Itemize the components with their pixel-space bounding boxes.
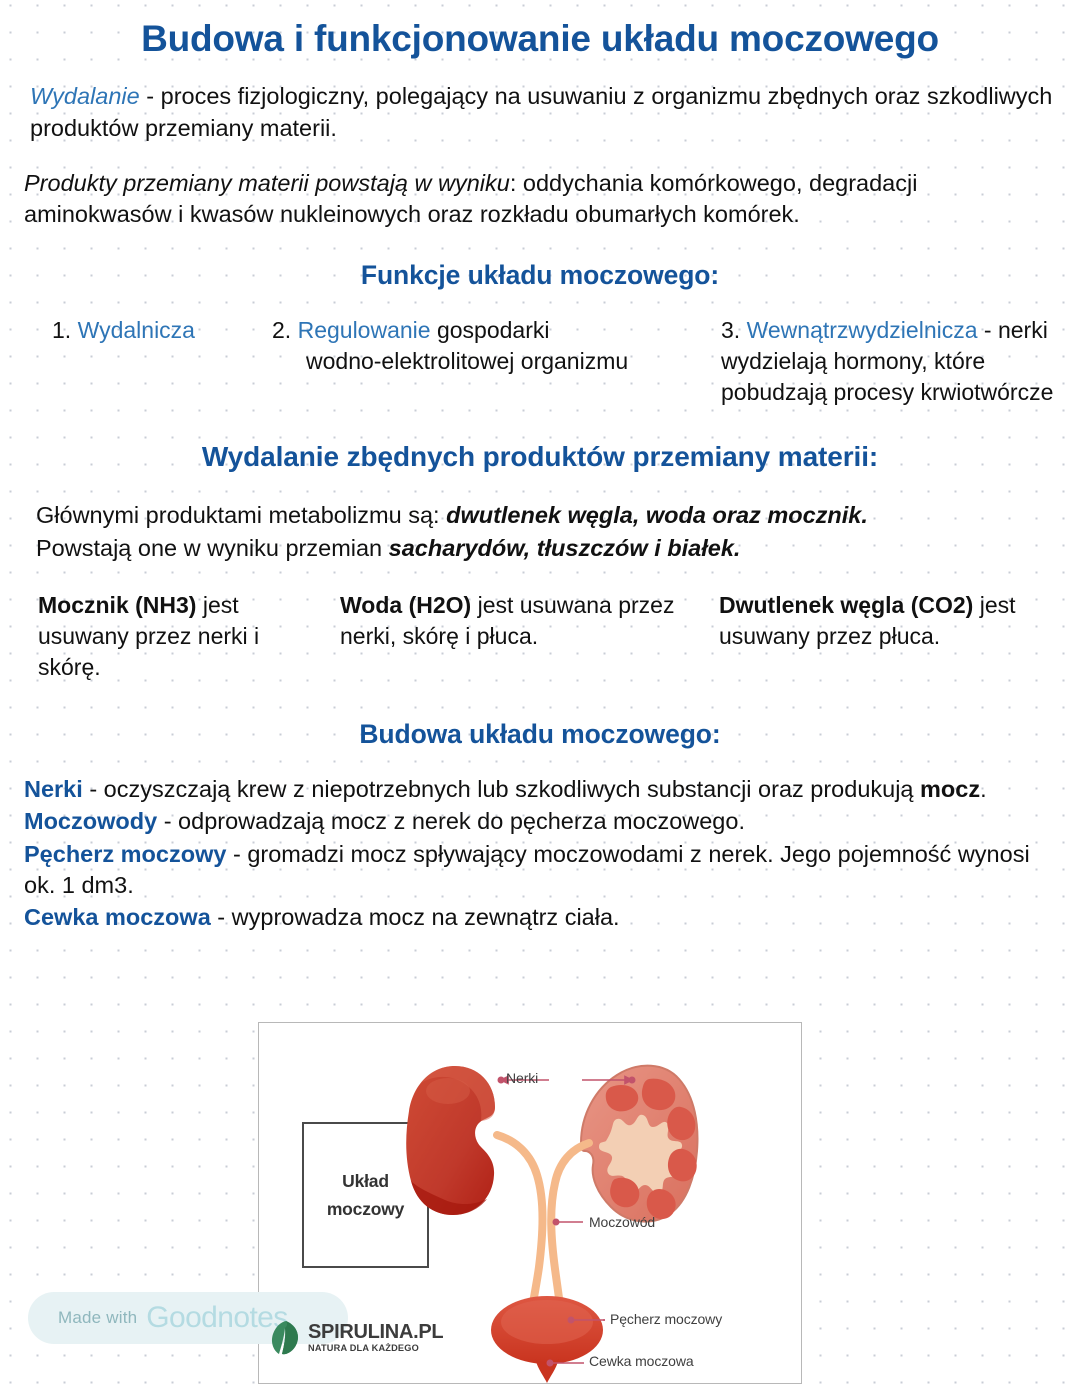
function-3-number: 3. xyxy=(721,317,747,343)
intro-paragraph-excretion: Wydalanie - proces fizjologiczny, polega… xyxy=(22,81,1058,144)
structure-1-term: Nerki xyxy=(24,776,83,802)
right-ureter-icon xyxy=(551,1143,589,1323)
spirulina-watermark: SPIRULINA.PL NATURA DLA KAŻDEGO xyxy=(268,1318,443,1358)
structure-item-bladder: Pęcherz moczowy - gromadzi mocz spływają… xyxy=(24,839,1058,902)
function-2-number: 2. xyxy=(272,317,298,343)
page-title: Budowa i funkcjonowanie układu moczowego xyxy=(22,0,1058,59)
right-kidney-cross-section-icon xyxy=(581,1066,697,1222)
spirulina-tagline-text: NATURA DLA KAŻDEGO xyxy=(308,1344,443,1353)
function-2-rest: gospodarki xyxy=(431,317,550,343)
intro-paragraph-products: Produkty przemiany materii powstają w wy… xyxy=(22,168,1058,231)
section-heading-structure: Budowa układu moczowego: xyxy=(22,719,1058,750)
products-list: Mocznik (NH3) jest usuwany przez nerki i… xyxy=(22,590,1058,683)
product-1-term: Mocznik (NH3) xyxy=(38,592,196,618)
leaf-logo-icon xyxy=(268,1318,302,1358)
left-kidney-icon xyxy=(406,1066,495,1215)
product-item-co2: Dwutlenek węgla (CO2) jest usuwany przez… xyxy=(707,590,1058,683)
function-2-term: Regulowanie xyxy=(298,317,431,343)
structure-1-bold-tail: mocz xyxy=(920,776,980,802)
function-item-2: 2. Regulowanie gospodarki wodno-elektrol… xyxy=(269,315,719,407)
label-urethra: Cewka moczowa xyxy=(589,1353,694,1369)
structure-4-rest: - wyprowadza mocz na zewnątrz ciała. xyxy=(211,904,620,930)
goodnotes-made-with-text: Made with xyxy=(58,1308,137,1328)
goodnotes-brand-text: Goodnotes xyxy=(146,1301,287,1335)
product-2-term: Woda (H2O) xyxy=(340,592,471,618)
structure-4-term: Cewka moczowa xyxy=(24,904,211,930)
label-ureter: Moczowód xyxy=(589,1214,655,1230)
excretion-line-1-bold: dwutlenek węgla, woda oraz mocznik. xyxy=(446,502,868,528)
structure-list: Nerki - oczyszczają krew z niepotrzebnyc… xyxy=(22,774,1058,933)
structure-item-urethra: Cewka moczowa - wyprowadza mocz na zewną… xyxy=(24,902,1058,933)
product-3-term: Dwutlenek węgla (CO2) xyxy=(719,592,973,618)
function-item-1: 1. Wydalnicza xyxy=(22,315,269,407)
section-heading-excretion: Wydalanie zbędnych produktów przemiany m… xyxy=(22,441,1058,473)
structure-2-term: Moczowody xyxy=(24,808,157,834)
function-1-term: Wydalnicza xyxy=(78,317,195,343)
excretion-line-2: Powstają one w wyniku przemian sacharydó… xyxy=(36,532,1058,564)
functions-list: 1. Wydalnicza 2. Regulowanie gospodarki … xyxy=(22,315,1058,407)
excretion-line-2-plain: Powstają one w wyniku przemian xyxy=(36,535,389,561)
intro-text-1: - proces fizjologiczny, polegający na us… xyxy=(30,83,1052,140)
label-kidneys: Nerki xyxy=(506,1070,538,1086)
structure-item-kidneys: Nerki - oczyszczają krew z niepotrzebnyc… xyxy=(24,774,1058,805)
structure-1-rest: - oczyszczają krew z niepotrzebnych lub … xyxy=(83,776,920,802)
structure-1-tail: . xyxy=(980,776,987,802)
section-heading-functions: Funkcje układu moczowego: xyxy=(22,260,1058,291)
structure-3-term: Pęcherz moczowy xyxy=(24,841,226,867)
product-item-urea: Mocznik (NH3) jest usuwany przez nerki i… xyxy=(22,590,322,683)
excretion-line-1-plain: Głównymi produktami metabolizmu są: xyxy=(36,502,446,528)
bladder-icon xyxy=(491,1296,603,1383)
function-3-term: Wewnątrzwydzielnicza xyxy=(747,317,978,343)
excretion-intro: Głównymi produktami metabolizmu są: dwut… xyxy=(22,499,1058,564)
spirulina-brand-text: SPIRULINA.PL xyxy=(308,1322,443,1342)
spirulina-text-block: SPIRULINA.PL NATURA DLA KAŻDEGO xyxy=(308,1322,443,1353)
excretion-line-2-bold: sacharydów, tłuszczów i białek. xyxy=(389,535,741,561)
intro-term-produkty: Produkty przemiany materii powstają w wy… xyxy=(24,170,510,196)
function-item-3: 3. Wewnątrzwydzielnicza - nerki wydziela… xyxy=(719,315,1058,407)
intro-term-wydalanie: Wydalanie xyxy=(30,83,140,109)
structure-2-rest: - odprowadzają mocz z nerek do pęcherza … xyxy=(157,808,745,834)
label-bladder: Pęcherz moczowy xyxy=(610,1311,722,1327)
notebook-page: Budowa i funkcjonowanie układu moczowego… xyxy=(0,0,1080,1394)
function-1-number: 1. xyxy=(52,317,78,343)
excretion-line-1: Głównymi produktami metabolizmu są: dwut… xyxy=(36,499,1058,531)
structure-item-ureters: Moczowody - odprowadzają mocz z nerek do… xyxy=(24,806,1058,837)
product-item-water: Woda (H2O) jest usuwana przez nerki, skó… xyxy=(322,590,707,683)
function-2-rest-line2: wodno-elektrolitowej organizmu xyxy=(272,346,719,377)
left-ureter-icon xyxy=(497,1135,543,1323)
